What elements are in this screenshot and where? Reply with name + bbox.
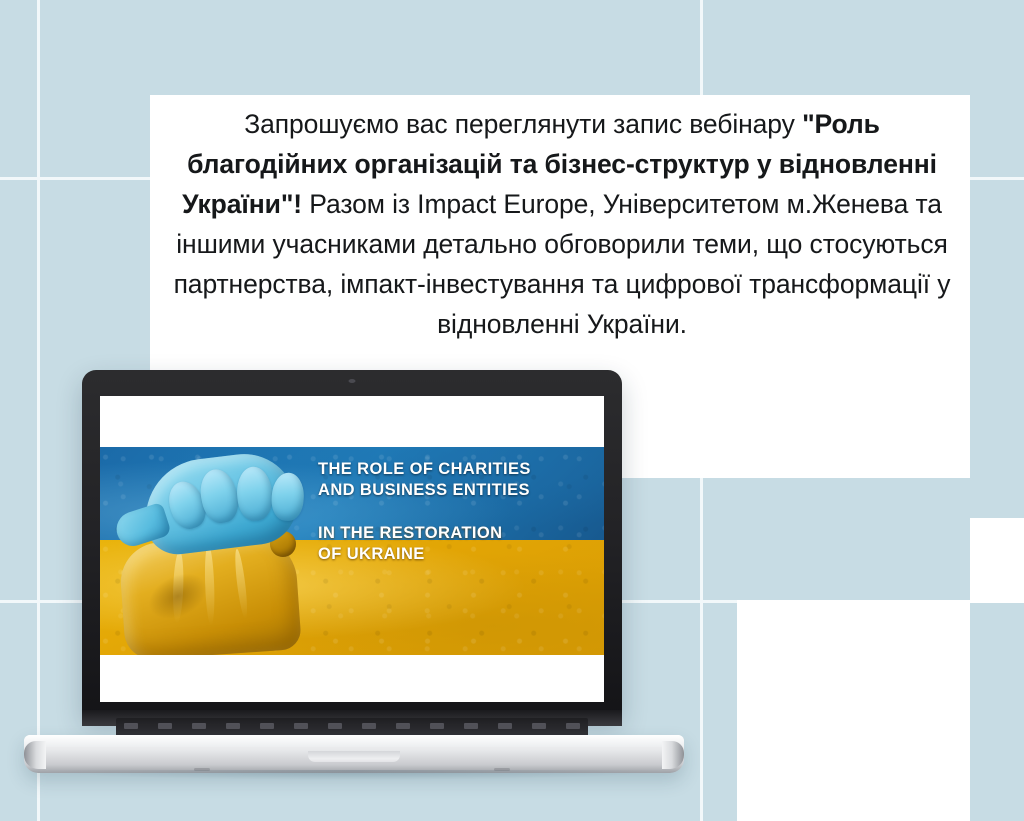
knuckle-shape xyxy=(235,466,274,522)
webinar-slide: THE ROLE OF CHARITIES AND BUSINESS ENTIT… xyxy=(100,396,604,702)
keyboard-key-row xyxy=(124,723,580,729)
slide-headline-line: AND BUSINESS ENTITIES xyxy=(318,480,598,501)
keyboard-key xyxy=(430,723,444,729)
slide-headline-line: THE ROLE OF CHARITIES xyxy=(318,459,598,480)
tendon-line xyxy=(233,549,249,619)
laptop-screen[interactable]: THE ROLE OF CHARITIES AND BUSINESS ENTIT… xyxy=(100,396,604,702)
base-top-sheen xyxy=(24,735,684,747)
keyboard-key xyxy=(498,723,512,729)
keyboard-key xyxy=(226,723,240,729)
keyboard-key xyxy=(566,723,580,729)
webcam-icon xyxy=(349,379,356,383)
slide-headline-yellow-block: IN THE RESTORATION OF UKRAINE xyxy=(318,523,598,565)
slide-headline-line: OF UKRAINE xyxy=(318,544,598,565)
keyboard-key xyxy=(260,723,274,729)
trackpad-notch xyxy=(308,751,400,762)
poster-canvas: Запрошуємо вас переглянути запис вебінар… xyxy=(0,0,1024,821)
slide-headline: THE ROLE OF CHARITIES AND BUSINESS ENTIT… xyxy=(318,459,598,565)
laptop-lid: THE ROLE OF CHARITIES AND BUSINESS ENTIT… xyxy=(82,370,622,718)
clasped-hands-illustration xyxy=(110,453,310,655)
slide-banner: THE ROLE OF CHARITIES AND BUSINESS ENTIT… xyxy=(100,447,604,655)
laptop-base xyxy=(24,735,684,773)
decorative-block-bottom xyxy=(737,600,970,821)
keyboard-key xyxy=(294,723,308,729)
keyboard-key xyxy=(124,723,138,729)
keyboard-key xyxy=(192,723,206,729)
knuckle-shape xyxy=(271,472,305,522)
keyboard-key xyxy=(396,723,410,729)
keyboard-key xyxy=(532,723,546,729)
keyboard-key xyxy=(362,723,376,729)
keyboard-key xyxy=(328,723,342,729)
decorative-block-right xyxy=(970,518,1024,603)
announcement-text: Запрошуємо вас переглянути запис вебінар… xyxy=(170,104,954,344)
slide-headline-blue-block: THE ROLE OF CHARITIES AND BUSINESS ENTIT… xyxy=(318,459,598,501)
laptop-mockup: THE ROLE OF CHARITIES AND BUSINESS ENTIT… xyxy=(24,370,684,785)
announcement-segment-lead: Запрошуємо вас переглянути запис вебінар… xyxy=(244,109,802,139)
base-edge-left xyxy=(24,741,46,769)
laptop-drop-shadow xyxy=(42,770,666,780)
keyboard-key xyxy=(464,723,478,729)
keyboard-key xyxy=(158,723,172,729)
slide-headline-line: IN THE RESTORATION xyxy=(318,523,598,544)
base-edge-right xyxy=(662,741,684,769)
